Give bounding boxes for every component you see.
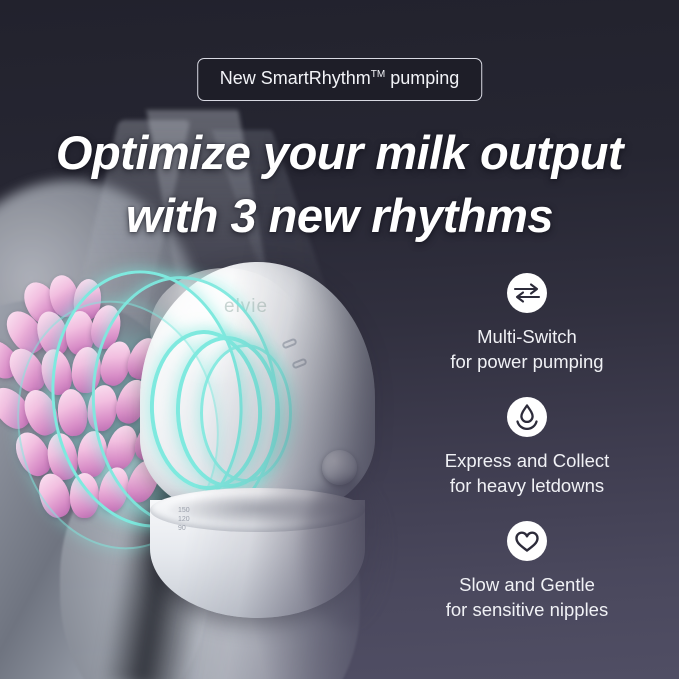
new-feature-badge[interactable]: New SmartRhythmTM pumping: [197, 58, 483, 101]
feature-title: Express and Collect: [445, 450, 610, 471]
feature-text: Express and Collect for heavy letdowns: [398, 448, 656, 498]
feature-text: Slow and Gentle for sensitive nipples: [398, 572, 656, 622]
promotional-banner: elvie 15012090 New SmartRhythmTM pumping…: [0, 0, 679, 679]
feature-item-multi-switch: Multi-Switch for power pumping: [398, 272, 656, 374]
feature-title: Multi-Switch: [477, 326, 577, 347]
feature-title: Slow and Gentle: [459, 574, 595, 595]
feature-subtitle: for power pumping: [398, 349, 656, 374]
badge-label-suffix: pumping: [385, 68, 459, 88]
feature-list: Multi-Switch for power pumping Express a…: [398, 272, 656, 644]
headline-line-2: with 3 new rhythms: [0, 184, 679, 247]
feature-item-express-collect: Express and Collect for heavy letdowns: [398, 396, 656, 498]
page-title: Optimize your milk output with 3 new rhy…: [0, 121, 679, 247]
badge-label: New SmartRhythm: [220, 68, 371, 88]
feature-item-slow-gentle: Slow and Gentle for sensitive nipples: [398, 520, 656, 622]
feature-text: Multi-Switch for power pumping: [398, 324, 656, 374]
product-illustration: elvie 15012090: [0, 0, 420, 679]
switch-arrows-icon: [506, 272, 548, 314]
headline-line-1: Optimize your milk output: [56, 126, 623, 179]
cup-shadow: [300, 478, 390, 628]
heart-icon: [506, 520, 548, 562]
feature-subtitle: for sensitive nipples: [398, 597, 656, 622]
cup-scale-marks: 15012090: [178, 506, 190, 533]
trademark-symbol: TM: [371, 69, 385, 80]
feature-subtitle: for heavy letdowns: [398, 473, 656, 498]
water-droplet-icon: [506, 396, 548, 438]
rhythm-ring: [200, 344, 292, 482]
